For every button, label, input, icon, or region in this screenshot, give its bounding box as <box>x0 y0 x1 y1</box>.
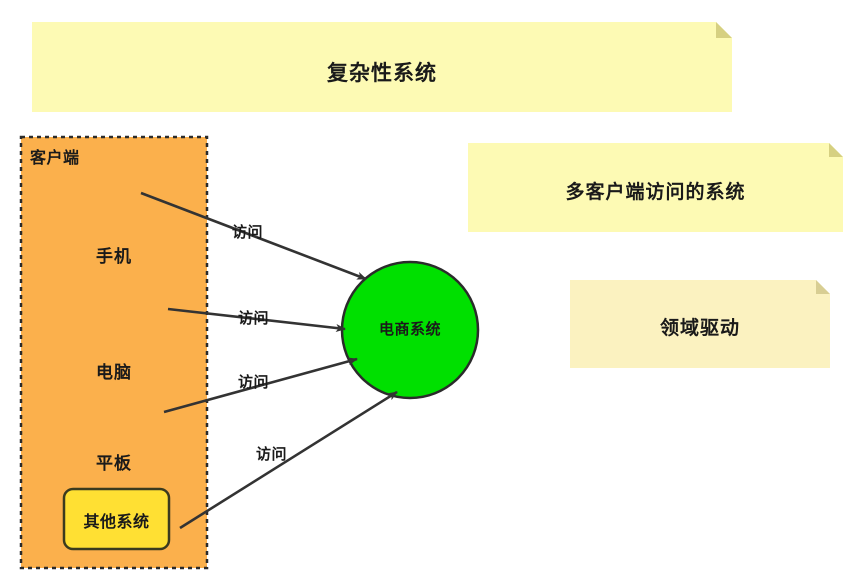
edge-label-computer-access: 访问 <box>238 307 269 328</box>
client-boundary-label: 客户端 <box>30 144 80 168</box>
device-label-computer[interactable]: 电脑 <box>28 358 200 383</box>
edge-other-system-access <box>180 392 397 528</box>
edge-label-tablet-access: 访问 <box>238 371 269 392</box>
edge-label-phone-access: 访问 <box>232 221 263 242</box>
device-label-tablet[interactable]: 平板 <box>28 449 200 474</box>
diagram-canvas <box>0 0 862 580</box>
other-system-label[interactable]: 其他系统 <box>64 508 169 532</box>
note-complexity-label: 复杂性系统 <box>32 57 732 87</box>
device-label-phone[interactable]: 手机 <box>28 242 200 267</box>
ecommerce-system-label[interactable]: 电商系统 <box>340 318 480 339</box>
note-multi-client-label: 多客户端访问的系统 <box>468 177 843 204</box>
note-domain-driven-label: 领域驱动 <box>570 313 830 340</box>
edge-label-other-system-access: 访问 <box>256 443 287 464</box>
